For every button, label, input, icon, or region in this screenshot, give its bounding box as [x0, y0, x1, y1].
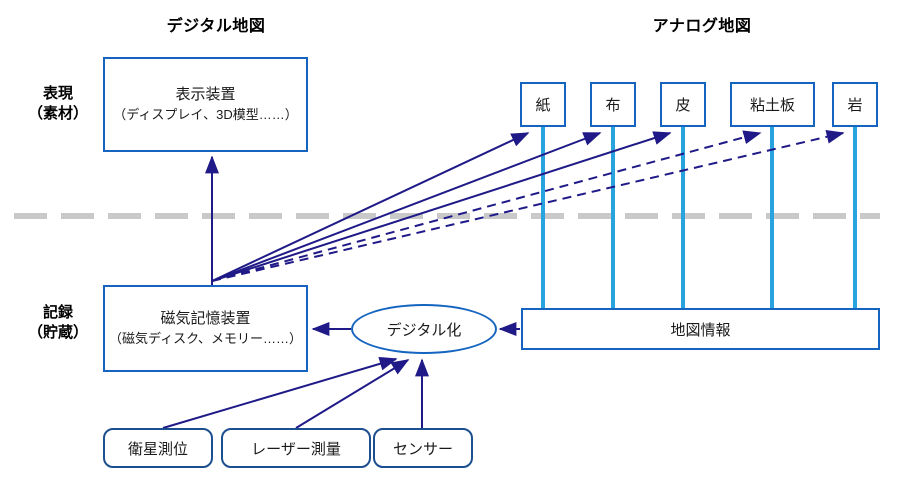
input-laser-label: レーザー測量	[251, 438, 341, 459]
material-cloth-label: 布	[605, 94, 620, 115]
row-label-expression-line2: （素材）	[20, 104, 96, 124]
node-input-laser[interactable]: レーザー測量	[221, 428, 371, 468]
magnetic-storage-title: 磁気記憶装置	[160, 308, 250, 330]
arrow-storage-to-cloth	[212, 133, 600, 281]
node-material-leather[interactable]: 皮	[660, 82, 706, 127]
material-paper-label: 紙	[535, 94, 550, 115]
arrow-storage-to-rock	[212, 133, 843, 281]
layer-divider	[14, 213, 880, 219]
row-label-record: 記録 （貯蔵）	[20, 303, 96, 344]
node-input-sensor[interactable]: センサー	[373, 428, 473, 468]
node-material-clay-tablet[interactable]: 粘土板	[730, 82, 815, 127]
digitization-label: デジタル化	[387, 319, 462, 340]
display-device-subtitle: （ディスプレイ、3D模型……）	[113, 106, 297, 125]
diagram-canvas: デジタル地図 アナログ地図 表現 （素材） 記録 （貯蔵）	[0, 0, 900, 491]
node-input-satellite[interactable]: 衛星測位	[103, 428, 213, 468]
arrow-storage-to-paper	[212, 133, 528, 281]
row-label-record-line1: 記録	[20, 303, 96, 323]
node-magnetic-storage[interactable]: 磁気記憶装置 （磁気ディスク、メモリー……）	[103, 285, 308, 372]
material-leather-label: 皮	[675, 94, 690, 115]
material-rock-label: 岩	[847, 94, 862, 115]
heading-analog-map: アナログ地図	[622, 12, 782, 36]
row-label-record-line2: （貯蔵）	[20, 323, 96, 343]
material-clay-tablet-label: 粘土板	[750, 94, 795, 115]
node-map-information[interactable]: 地図情報	[521, 308, 880, 350]
node-display-device[interactable]: 表示装置 （ディスプレイ、3D模型……）	[103, 57, 308, 152]
arrow-laser-to-digitization	[296, 360, 408, 428]
input-satellite-label: 衛星測位	[128, 438, 188, 459]
arrow-storage-to-leather	[212, 133, 670, 281]
node-material-cloth[interactable]: 布	[590, 82, 636, 127]
arrow-storage-to-claytablet	[212, 133, 760, 281]
node-material-paper[interactable]: 紙	[520, 82, 566, 127]
map-information-label: 地図情報	[670, 319, 730, 340]
magnetic-storage-subtitle: （磁気ディスク、メモリー……）	[109, 330, 302, 349]
input-sensor-label: センサー	[393, 438, 453, 459]
row-label-expression-line1: 表現	[20, 84, 96, 104]
node-material-rock[interactable]: 岩	[832, 82, 878, 127]
node-digitization[interactable]: デジタル化	[351, 304, 497, 354]
display-device-title: 表示装置	[175, 84, 235, 106]
heading-digital-map: デジタル地図	[136, 12, 296, 36]
row-label-expression: 表現 （素材）	[20, 84, 96, 125]
